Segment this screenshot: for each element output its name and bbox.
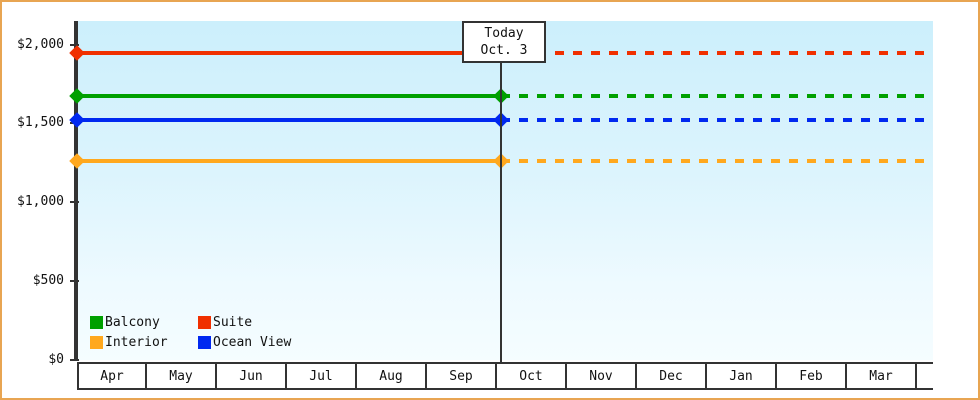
- series-line-solid-balcony: [77, 94, 501, 98]
- series-line-solid-interior: [77, 159, 501, 163]
- today-callout-box: Today Oct. 3: [462, 21, 546, 63]
- legend-label-balcony: Balcony: [105, 315, 160, 330]
- x-axis-cell-jan[interactable]: Jan: [707, 364, 777, 388]
- y-axis-label: $1,500: [17, 115, 64, 130]
- y-axis-label: $2,000: [17, 37, 64, 52]
- y-axis-tick: [70, 201, 79, 203]
- x-axis-cell-aug[interactable]: Aug: [357, 364, 427, 388]
- legend-label-ocean-view: Ocean View: [213, 335, 291, 350]
- y-axis-line: [74, 21, 78, 360]
- x-axis-cell-jun[interactable]: Jun: [217, 364, 287, 388]
- plot-area: [77, 21, 933, 360]
- x-axis-cell-sep[interactable]: Sep: [427, 364, 497, 388]
- x-axis-cell-feb[interactable]: Feb: [777, 364, 847, 388]
- y-axis-tick: [70, 280, 79, 282]
- legend-swatch-interior: [90, 336, 103, 349]
- series-line-solid-suite: [77, 51, 501, 55]
- x-axis-band: AprMayJunJulAugSepOctNovDecJanFebMar: [77, 362, 933, 390]
- legend-label-suite: Suite: [213, 315, 252, 330]
- today-callout-line1: Today: [484, 25, 523, 42]
- series-line-dashed-balcony: [501, 94, 933, 98]
- x-axis-cell-tail: [917, 364, 933, 388]
- legend: BalconySuiteInteriorOcean View: [90, 312, 291, 352]
- x-axis-cell-dec[interactable]: Dec: [637, 364, 707, 388]
- legend-swatch-ocean-view: [198, 336, 211, 349]
- y-axis-label: $500: [33, 273, 64, 288]
- legend-swatch-balcony: [90, 316, 103, 329]
- today-callout-line2: Oct. 3: [481, 42, 528, 59]
- legend-label-interior: Interior: [105, 335, 168, 350]
- legend-swatch-suite: [198, 316, 211, 329]
- x-axis-cell-may[interactable]: May: [147, 364, 217, 388]
- legend-entry-balcony[interactable]: Balcony: [90, 312, 190, 332]
- x-axis-cell-nov[interactable]: Nov: [567, 364, 637, 388]
- price-forecast-chart: $0$500$1,000$1,500$2,000 Today Oct. 3 Ba…: [0, 0, 980, 400]
- today-callout-stem: [500, 62, 502, 88]
- legend-entry-ocean-view[interactable]: Ocean View: [198, 332, 291, 352]
- x-axis-cell-oct[interactable]: Oct: [497, 364, 567, 388]
- legend-entry-suite[interactable]: Suite: [198, 312, 291, 332]
- series-line-dashed-interior: [501, 159, 933, 163]
- series-line-dashed-suite: [501, 51, 933, 55]
- legend-entry-interior[interactable]: Interior: [90, 332, 190, 352]
- y-axis-label: $1,000: [17, 194, 64, 209]
- x-axis-cell-jul[interactable]: Jul: [287, 364, 357, 388]
- series-line-solid-ocean-view: [77, 118, 501, 122]
- x-axis-cell-mar[interactable]: Mar: [847, 364, 917, 388]
- y-axis-tick: [70, 359, 79, 361]
- y-axis-label: $0: [48, 352, 64, 367]
- x-axis-cell-apr[interactable]: Apr: [77, 364, 147, 388]
- series-line-dashed-ocean-view: [501, 118, 933, 122]
